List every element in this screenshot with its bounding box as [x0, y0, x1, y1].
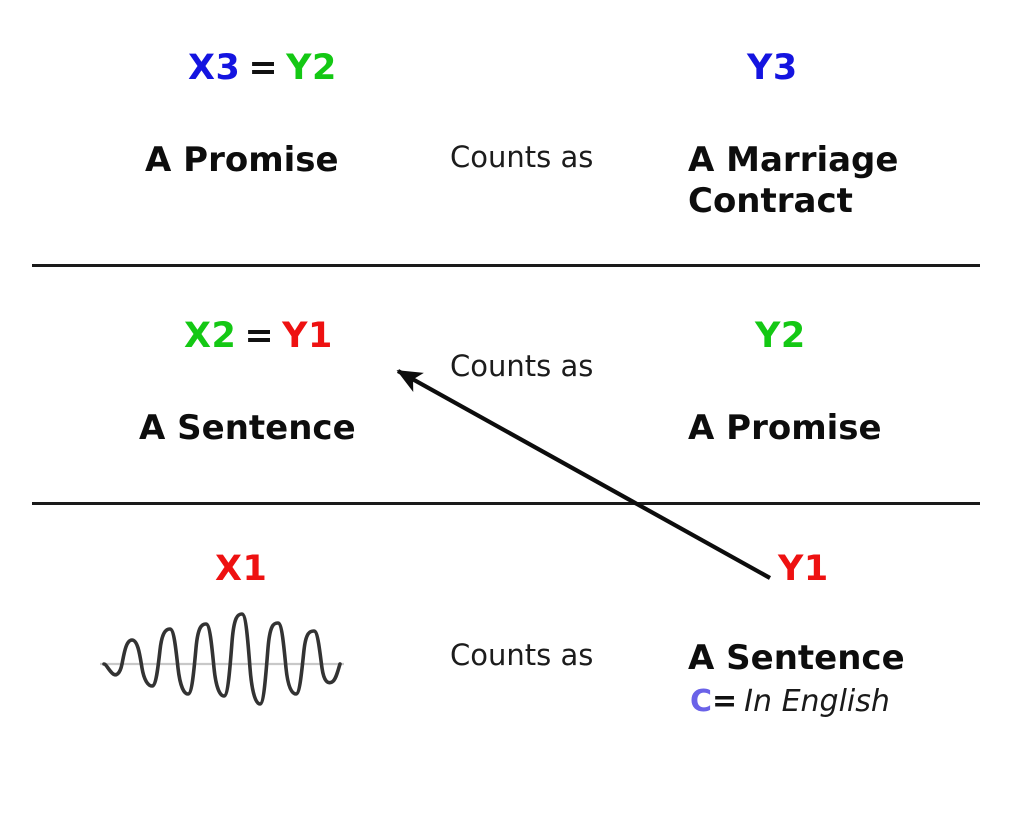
label-a-promise-middle: A Promise: [688, 408, 882, 449]
symbol-term-x1: X1: [215, 549, 267, 589]
symbol-term-c: C: [690, 684, 712, 719]
symbol-term-x3: X3: [188, 48, 240, 88]
divider-row1-row2: [32, 264, 980, 267]
equals-operator: =: [236, 316, 282, 356]
divider-row2-row3: [32, 502, 980, 505]
equals-operator: =: [240, 48, 286, 88]
connector-counts-as-row2: Counts as: [450, 352, 593, 381]
sublabel-c-equals-in-english: C=In English: [690, 687, 890, 717]
label-a-promise-top: A Promise: [145, 140, 339, 181]
symbol-y2: Y2: [755, 319, 806, 354]
symbol-term-y3: Y3: [747, 48, 798, 88]
symbol-x2-equals-y1: X2=Y1: [184, 319, 333, 354]
symbol-x1: X1: [215, 552, 267, 587]
sound-waveform-icon: [96, 612, 348, 716]
symbol-x3-equals-y2: X3=Y2: [188, 51, 337, 86]
symbol-term-y1: Y1: [778, 549, 829, 589]
connector-counts-as-row3: Counts as: [450, 641, 593, 670]
label-a-sentence-middle: A Sentence: [139, 408, 356, 449]
diagram-canvas: X3=Y2 A Promise Counts as Y3 A Marriage …: [0, 0, 1018, 840]
symbol-term-x2: X2: [184, 316, 236, 356]
symbol-y1-bottom: Y1: [778, 552, 829, 587]
sublabel-text: In English: [744, 684, 890, 719]
label-a-marriage-contract: A Marriage Contract: [688, 140, 898, 223]
symbol-y3: Y3: [747, 51, 798, 86]
label-a-sentence-bottom: A Sentence: [688, 638, 905, 679]
connector-counts-as-row1: Counts as: [450, 143, 593, 172]
symbol-term-y2: Y2: [286, 48, 337, 88]
equals-operator: =: [712, 684, 744, 719]
symbol-term-y1: Y1: [282, 316, 333, 356]
symbol-term-y2: Y2: [755, 316, 806, 356]
